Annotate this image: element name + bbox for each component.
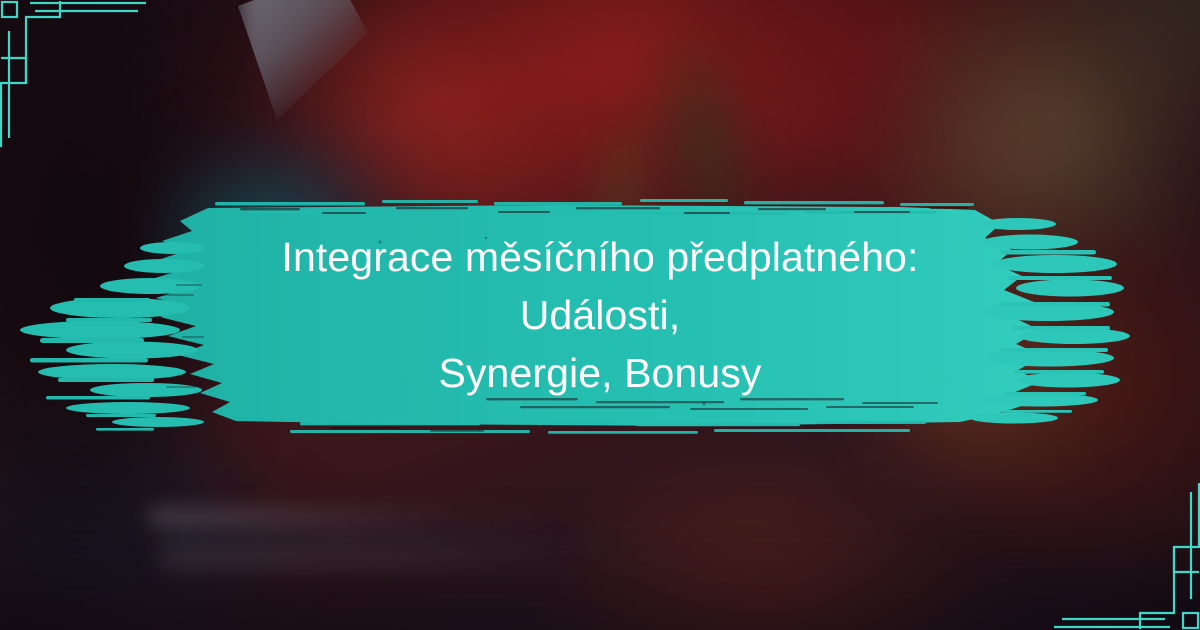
card-title-container: Integrace měsíčního předplatného: Událos…	[0, 190, 1200, 440]
social-share-card: Integrace měsíčního předplatného: Událos…	[0, 0, 1200, 630]
card-title: Integrace měsíčního předplatného: Událos…	[205, 228, 995, 403]
